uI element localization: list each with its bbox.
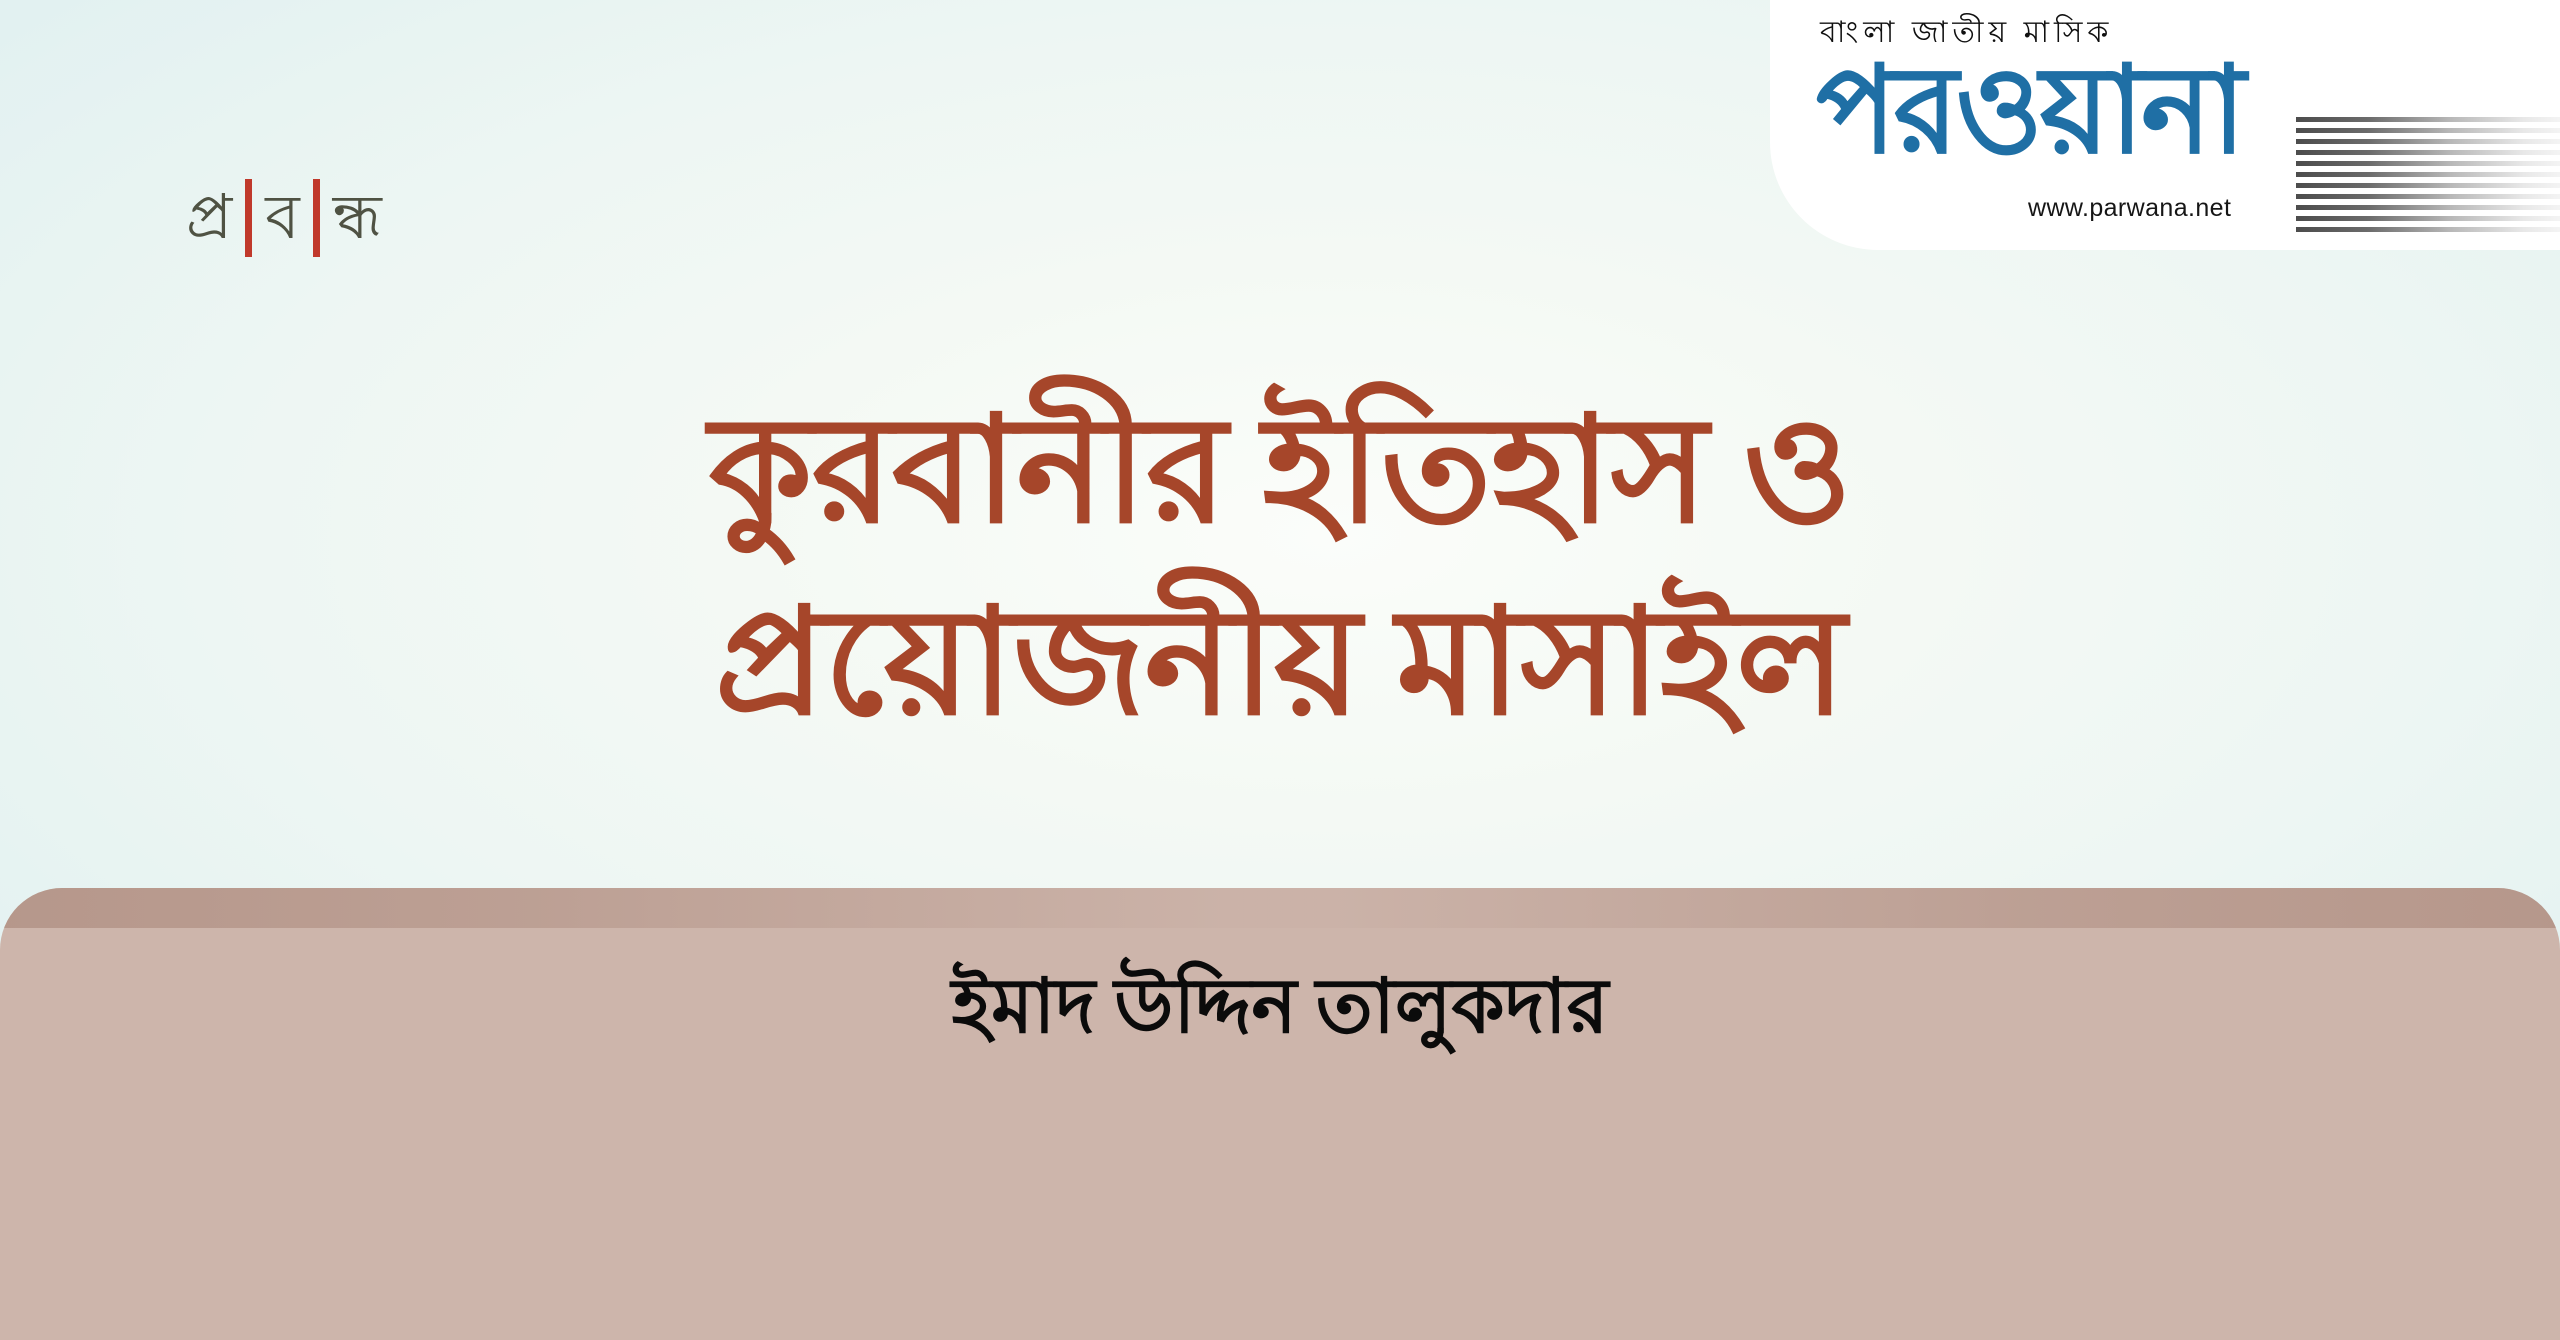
article-title: কুরবানীর ইতিহাস ও প্রয়োজনীয় মাসাইল	[0, 376, 2560, 761]
author-band: ইমাদ উদ্দিন তালুকদার	[0, 888, 2560, 1340]
author-name: ইমাদ উদ্দিন তালুকদার	[0, 960, 2560, 1055]
band-shadow-right	[1229, 888, 2560, 928]
category-badge: প্র ব ন্ধ	[186, 176, 382, 260]
band-shadow-left	[0, 888, 1331, 928]
category-syllable-1: প্র	[186, 187, 232, 249]
article-cover-canvas: বাংলা জাতীয় মাসিক পরওয়ানা	[0, 0, 2560, 1340]
article-title-line-2: প্রয়োজনীয় মাসাইল	[180, 568, 2380, 760]
speed-lines-icon	[2296, 117, 2560, 239]
masthead-row: পরওয়ানা	[1816, 55, 2536, 180]
category-separator-bar-1	[245, 179, 252, 257]
magazine-masthead: পরওয়ানা	[1816, 49, 2243, 171]
category-syllable-2: ব	[265, 187, 300, 249]
category-separator-bar-2	[313, 179, 320, 257]
article-title-line-1: কুরবানীর ইতিহাস ও	[180, 376, 2380, 568]
category-syllable-3: ন্ধ	[333, 187, 382, 249]
magazine-logo-panel[interactable]: বাংলা জাতীয় মাসিক পরওয়ানা	[1770, 0, 2560, 250]
logo-content: বাংলা জাতীয় মাসিক পরওয়ানা	[1816, 18, 2536, 233]
magazine-website-url[interactable]: www.parwana.net	[2028, 196, 2231, 221]
